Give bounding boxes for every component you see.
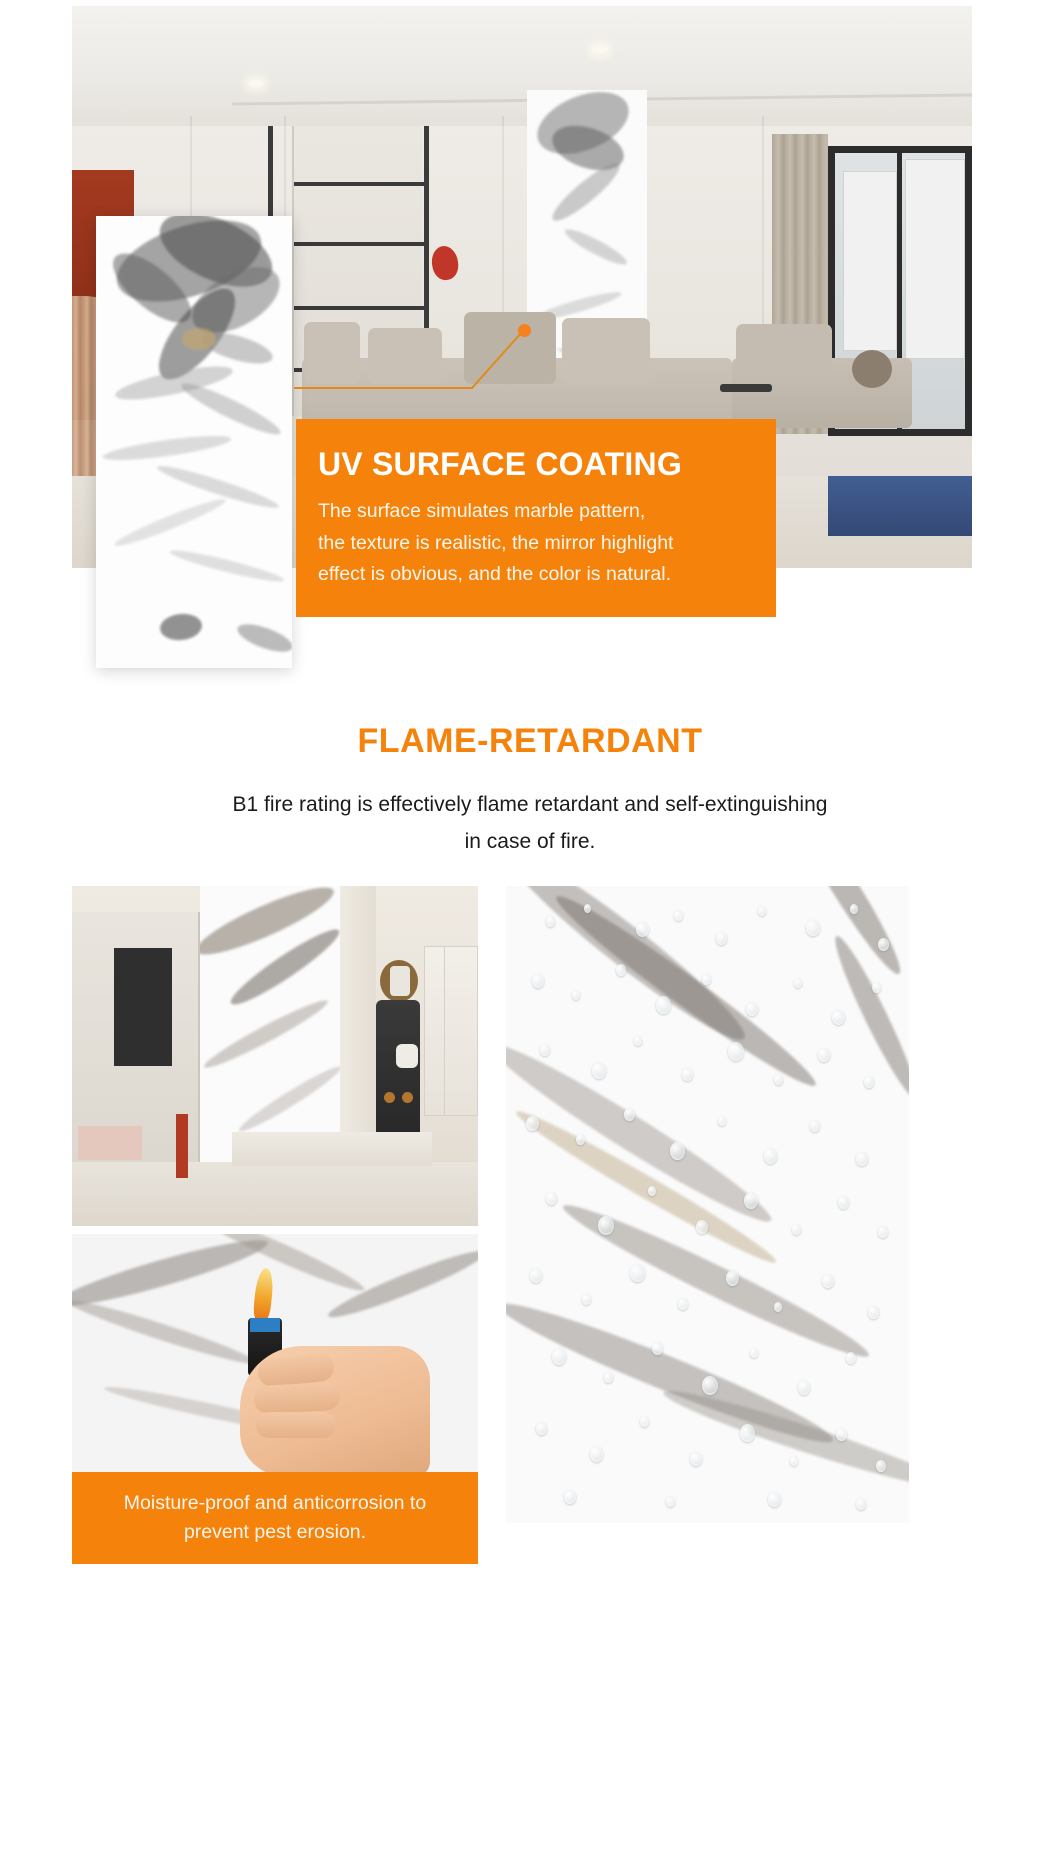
water-droplet [702,1376,718,1395]
hero-caption-line-3: effect is obvious, and the color is natu… [318,559,750,591]
decorative-statue [372,960,426,1152]
water-droplet [846,1352,856,1364]
water-droplet [836,1428,847,1441]
water-droplet [666,1496,675,1507]
water-droplet [876,1460,886,1472]
statue-body [376,1000,420,1152]
water-droplet [818,1048,830,1062]
marble-vein [168,546,285,586]
water-droplet [532,974,544,988]
water-droplet [864,1076,874,1088]
water-droplet [604,1372,613,1383]
water-droplet [590,1446,603,1462]
water-droplet [774,1074,783,1085]
water-droplet [552,1348,566,1365]
red-accent-object [176,1114,188,1178]
water-droplet [592,1062,606,1079]
water-droplet [792,1224,801,1235]
finger [253,1382,340,1414]
water-droplet [576,1134,585,1145]
water-droplet [794,978,802,988]
hero-section: UV SURFACE COATING The surface simulates… [0,0,1060,690]
water-droplet [536,1422,547,1435]
water-droplet [530,1268,542,1283]
water-droplet [656,996,671,1014]
pink-console [78,1126,142,1160]
cabinet-niche [114,948,172,1066]
downlight-icon [248,80,264,87]
statue-button [384,1092,395,1103]
marble-vein [178,377,285,441]
water-droplet [774,1302,782,1312]
flame-retardant-section: FLAME-RETARDANT B1 fire rating is effect… [0,700,1060,880]
water-droplet [716,932,727,945]
water-droplet [696,1220,708,1234]
marble-vein [102,431,233,465]
water-droplet [740,1424,755,1442]
water-droplet [856,1152,868,1166]
water-droplet [856,1498,866,1510]
marble-vein [234,619,292,658]
side-table [720,384,772,392]
water-droplet [564,1490,576,1504]
marble-vein [562,224,630,269]
bolster-pillow [852,350,892,388]
water-droplet [768,1492,781,1507]
sofa-cushion [736,324,832,376]
downlight-icon [592,46,608,53]
bench [232,1132,432,1166]
statue-button [402,1092,413,1103]
lighter-button [250,1318,280,1332]
water-droplet [746,1002,758,1016]
water-droplet [690,1452,702,1466]
statue-hand [396,1044,418,1068]
water-droplet [648,1186,656,1196]
water-droplet [584,904,591,913]
exterior-building [843,171,897,351]
marble-vein [235,1061,340,1136]
water-droplet [726,1270,739,1286]
gallery-caption-line-1: Moisture-proof and anticorrosion to [124,1492,426,1514]
water-droplet [636,922,649,937]
marble-vein [72,1293,260,1370]
water-droplet [630,1264,645,1282]
marble-vein [112,494,228,551]
water-droplet [526,1116,539,1131]
gallery-waterproof-photo [506,886,909,1523]
water-droplet [640,1416,649,1427]
hero-caption-box: UV SURFACE COATING The surface simulates… [296,419,776,617]
water-droplet [850,904,858,914]
callout-dot-marker [518,324,531,337]
flame-retardant-title: FLAME-RETARDANT [0,722,1060,761]
water-droplet [678,1298,688,1310]
flame-icon [252,1267,275,1322]
water-droplet [872,982,881,993]
water-droplet [634,1036,642,1046]
flame-retardant-line-1: B1 fire rating is effectively flame reta… [125,789,935,822]
door-panel [444,946,478,1116]
water-droplet [758,906,766,916]
water-droplet [750,1348,758,1358]
marble-vein [159,612,203,642]
finger [256,1412,336,1438]
shelf [294,182,426,186]
marble-vein [72,1234,271,1316]
water-droplet [838,1196,849,1209]
water-droplet [718,1116,726,1126]
water-droplet [652,1342,663,1355]
callout-connector-line [290,320,550,400]
water-droplet [598,1216,614,1235]
water-droplet [806,920,820,936]
marble-vein-accent [182,328,216,350]
water-droplet [670,1142,685,1160]
shelf [294,306,426,310]
water-droplet [546,916,555,927]
hero-caption-line-2: the texture is realistic, the mirror hig… [318,528,750,560]
interior-ceiling [72,6,972,126]
water-droplet [764,1148,777,1164]
product-detail-page: UV SURFACE COATING The surface simulates… [0,0,1060,1861]
water-droplet [572,990,580,1000]
hallway-floor [72,1162,478,1226]
water-droplet [582,1294,591,1305]
sofa-cushion [562,318,650,384]
marble-swatch-card [96,216,292,668]
water-droplet [624,1108,635,1121]
hero-caption-line-1: The surface simulates marble pattern, [318,496,750,528]
marble-vein [548,886,825,1097]
water-droplet [832,1010,845,1025]
water-droplet [674,910,683,921]
gallery-caption-text: Moisture-proof and anticorrosion to prev… [124,1489,426,1548]
water-droplet [728,1042,744,1061]
water-droplet [546,1192,557,1205]
flame-retardant-line-2: in case of fire. [125,826,935,859]
water-droplet [878,1226,888,1238]
exterior-building [905,159,965,359]
marble-vein [659,1380,909,1497]
gallery-interior-photo [72,886,478,1226]
water-droplet [702,974,711,985]
water-droplet [790,1456,798,1466]
shelf [294,242,426,246]
gallery-section: Moisture-proof and anticorrosion to prev… [0,886,1060,1861]
water-droplet [798,1380,810,1395]
statue-face [390,966,410,996]
water-droplet [682,1068,693,1081]
water-droplet [868,1306,879,1319]
water-droplet [744,1192,758,1209]
gallery-flame-test-photo [72,1234,478,1472]
gallery-caption-line-2: prevent pest erosion. [184,1521,366,1543]
hero-caption-title: UV SURFACE COATING [318,447,750,482]
water-droplet [616,964,626,976]
water-droplet [810,1120,820,1132]
water-droplet [878,938,889,951]
pool-reflection [828,476,972,536]
water-droplet [540,1044,550,1056]
gallery-caption-box: Moisture-proof and anticorrosion to prev… [72,1472,478,1564]
water-droplet [822,1274,834,1288]
marble-vein [200,994,331,1074]
